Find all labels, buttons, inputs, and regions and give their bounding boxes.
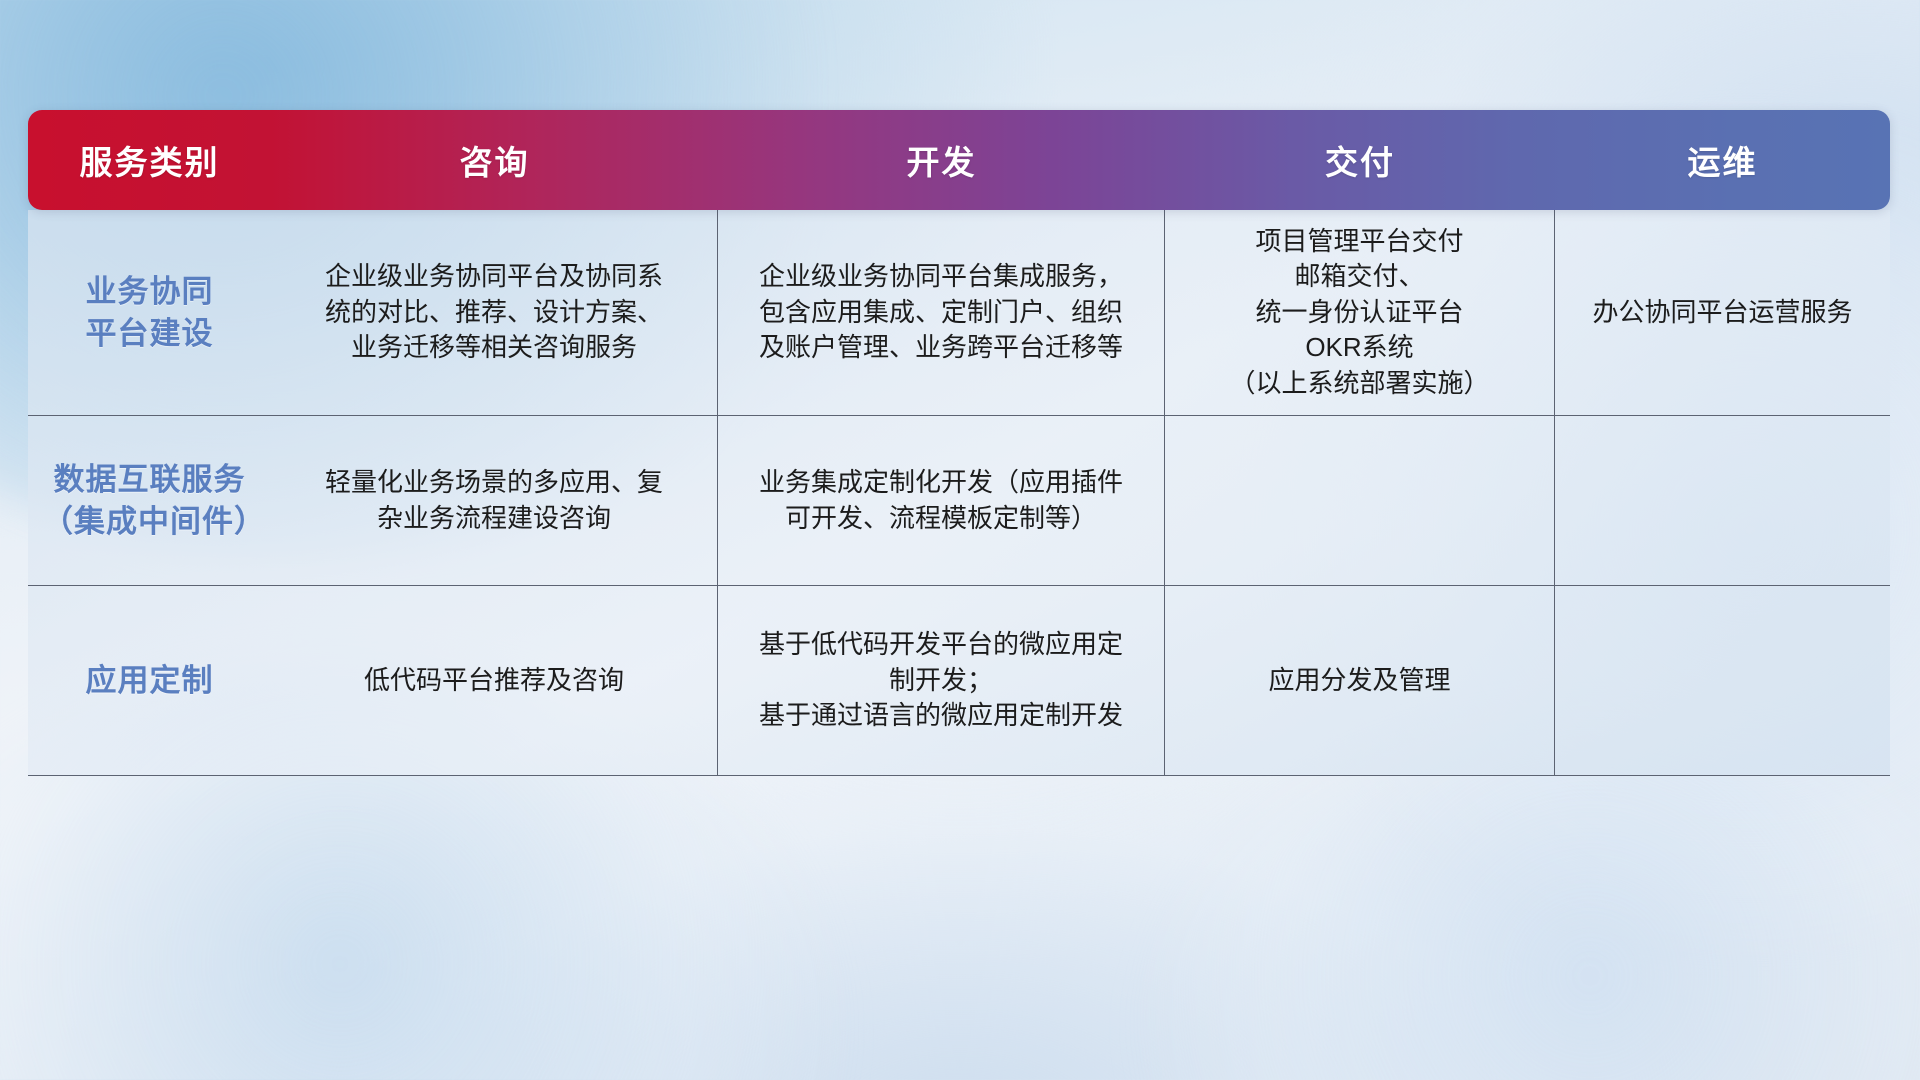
row-consulting-cell: 低代码平台推荐及咨询 (271, 586, 718, 775)
service-category-table: 服务类别 咨询 开发 交付 运维 业务协同 平台建设 企业级业务协同平台及协同系… (28, 110, 1890, 776)
row-development-cell: 业务集成定制化开发（应用插件 可开发、流程模板定制等） (718, 416, 1165, 585)
row-category-cell: 业务协同 平台建设 (28, 210, 271, 415)
table-row: 应用定制 低代码平台推荐及咨询 基于低代码开发平台的微应用定 制开发； 基于通过… (28, 586, 1890, 776)
row-delivery-cell (1165, 416, 1555, 585)
row-operations-cell (1555, 416, 1890, 585)
row-category-cell: 数据互联服务 （集成中间件） (28, 416, 271, 585)
category-label: 数据互联服务 （集成中间件） (42, 459, 257, 543)
category-label: 业务协同 平台建设 (86, 271, 214, 355)
table-header-development: 开发 (718, 136, 1165, 184)
table-row: 数据互联服务 （集成中间件） 轻量化业务场景的多应用、复 杂业务流程建设咨询 业… (28, 416, 1890, 586)
table-body: 业务协同 平台建设 企业级业务协同平台及协同系 统的对比、推荐、设计方案、 业务… (28, 210, 1890, 776)
table-header-service-category: 服务类别 (28, 136, 271, 184)
table-header-delivery: 交付 (1165, 136, 1555, 184)
table-header-operations: 运维 (1555, 136, 1890, 184)
row-consulting-cell: 企业级业务协同平台及协同系 统的对比、推荐、设计方案、 业务迁移等相关咨询服务 (271, 210, 718, 415)
row-operations-cell (1555, 586, 1890, 775)
row-delivery-cell: 应用分发及管理 (1165, 586, 1555, 775)
category-label: 应用定制 (86, 660, 214, 702)
row-delivery-cell: 项目管理平台交付 邮箱交付、 统一身份认证平台 OKR系统 （以上系统部署实施） (1165, 210, 1555, 415)
table-row: 业务协同 平台建设 企业级业务协同平台及协同系 统的对比、推荐、设计方案、 业务… (28, 210, 1890, 416)
row-development-cell: 基于低代码开发平台的微应用定 制开发； 基于通过语言的微应用定制开发 (718, 586, 1165, 775)
row-development-cell: 企业级业务协同平台集成服务， 包含应用集成、定制门户、组织 及账户管理、业务跨平… (718, 210, 1165, 415)
row-operations-cell: 办公协同平台运营服务 (1555, 210, 1890, 415)
row-category-cell: 应用定制 (28, 586, 271, 775)
table-header-consulting: 咨询 (271, 136, 718, 184)
table-header-row: 服务类别 咨询 开发 交付 运维 (28, 110, 1890, 210)
row-consulting-cell: 轻量化业务场景的多应用、复 杂业务流程建设咨询 (271, 416, 718, 585)
